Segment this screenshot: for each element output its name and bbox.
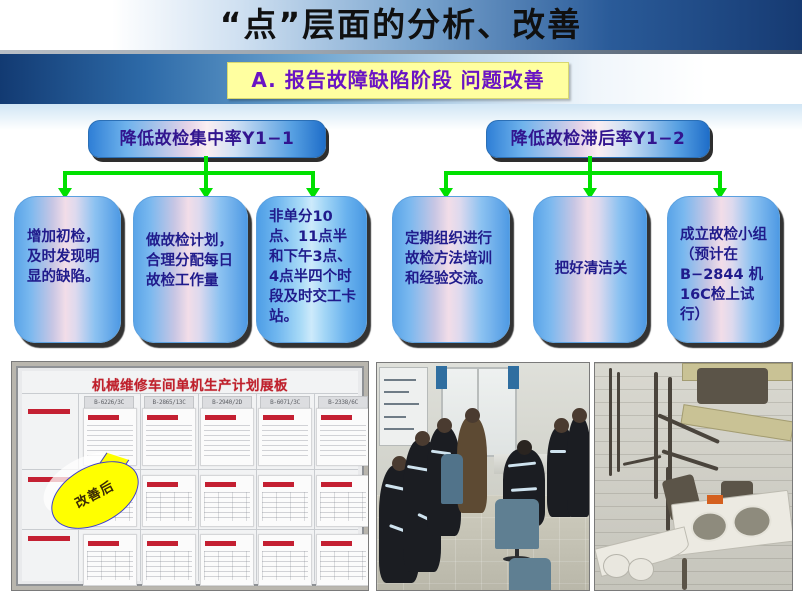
connector-bar-left <box>63 171 315 175</box>
board-paper <box>142 475 196 527</box>
board-hline-1 <box>22 393 358 394</box>
measure-box-m6[interactable]: 成立故检小组（预计在B−2844 机16C检上试行） <box>667 196 780 343</box>
connector-bar-right <box>444 171 722 175</box>
goal-box-y1-2[interactable]: 降低故检滞后率Y1−2 <box>486 120 710 158</box>
board-paper <box>200 408 254 466</box>
board-paper <box>258 475 312 527</box>
wheelwell-port <box>731 503 773 539</box>
photo-aircraft-wheel-well[interactable] <box>594 362 793 591</box>
meeting-person <box>567 417 590 517</box>
board-paper <box>142 408 196 466</box>
board-vline-4 <box>256 393 257 581</box>
wheelwell-equipment-cluster <box>697 368 768 404</box>
meeting-curtain-left <box>436 366 447 389</box>
meeting-chair <box>509 558 551 591</box>
goal-box-y1-1[interactable]: 降低故检集中率Y1−1 <box>88 120 326 158</box>
board-paper <box>200 475 254 527</box>
wheelwell-hose <box>617 372 620 472</box>
measure-box-m2[interactable]: 做故检计划，合理分配每日故检工作量 <box>133 196 248 343</box>
meeting-chair <box>441 454 463 504</box>
board-stub-bar-3 <box>28 536 70 541</box>
board-paper <box>316 534 369 586</box>
measure-box-m1[interactable]: 增加初检，及时发现明显的缺陷。 <box>14 196 121 343</box>
measure-box-m4-text: 定期组织进行故检方法培训和经验交流。 <box>405 229 499 289</box>
board-paper <box>316 475 369 527</box>
board-paper <box>200 534 254 586</box>
slide-canvas: “点”层面的分析、改善 A. 报告故障缺陷阶段 问题改善 降低故检集中率Y1−1… <box>0 0 802 598</box>
page-title: “点”层面的分析、改善 <box>0 2 802 50</box>
wheelwell-hose <box>609 368 612 477</box>
section-subtitle-badge: A. 报告故障缺陷阶段 问题改善 <box>227 62 569 99</box>
board-vline-5 <box>314 393 315 581</box>
callout-improved-after[interactable]: 改善后 <box>48 452 144 536</box>
measure-box-m5-text: 把好清洁关 <box>546 259 636 279</box>
measure-box-m1-text: 增加初检，及时发现明显的缺陷。 <box>27 227 110 287</box>
measure-box-m6-text: 成立故检小组（预计在B−2844 机16C检上试行） <box>680 225 769 325</box>
board-paper <box>258 408 312 466</box>
board-paper <box>316 408 369 466</box>
wheelwell-landing-light <box>628 558 654 580</box>
wheelwell-port <box>689 509 729 543</box>
meeting-chair <box>495 499 539 549</box>
board-paper <box>258 534 312 586</box>
measure-box-m5[interactable]: 把好清洁关 <box>533 196 647 343</box>
measure-box-m3[interactable]: 非单分10点、11点半和下午3点、4点半四个时段及时交工卡站。 <box>256 196 367 343</box>
meeting-curtain-right <box>508 366 519 389</box>
wheelwell-strut <box>682 558 687 590</box>
measure-box-m4[interactable]: 定期组织进行故检方法培训和经验交流。 <box>392 196 510 343</box>
wheelwell-hose <box>654 372 658 499</box>
wheelwell-placard <box>707 495 723 504</box>
board-caption: 机械维修车间单机生产计划展板 <box>22 374 358 394</box>
measure-box-m3-text: 非单分10点、11点半和下午3点、4点半四个时段及时交工卡站。 <box>269 207 356 327</box>
measure-box-m2-text: 做故检计划，合理分配每日故检工作量 <box>146 231 237 291</box>
board-paper <box>83 534 137 586</box>
board-vline-3 <box>198 393 199 581</box>
board-paper <box>142 534 196 586</box>
board-stub-bar-1 <box>28 409 70 414</box>
photo-training-meeting[interactable] <box>376 362 590 591</box>
